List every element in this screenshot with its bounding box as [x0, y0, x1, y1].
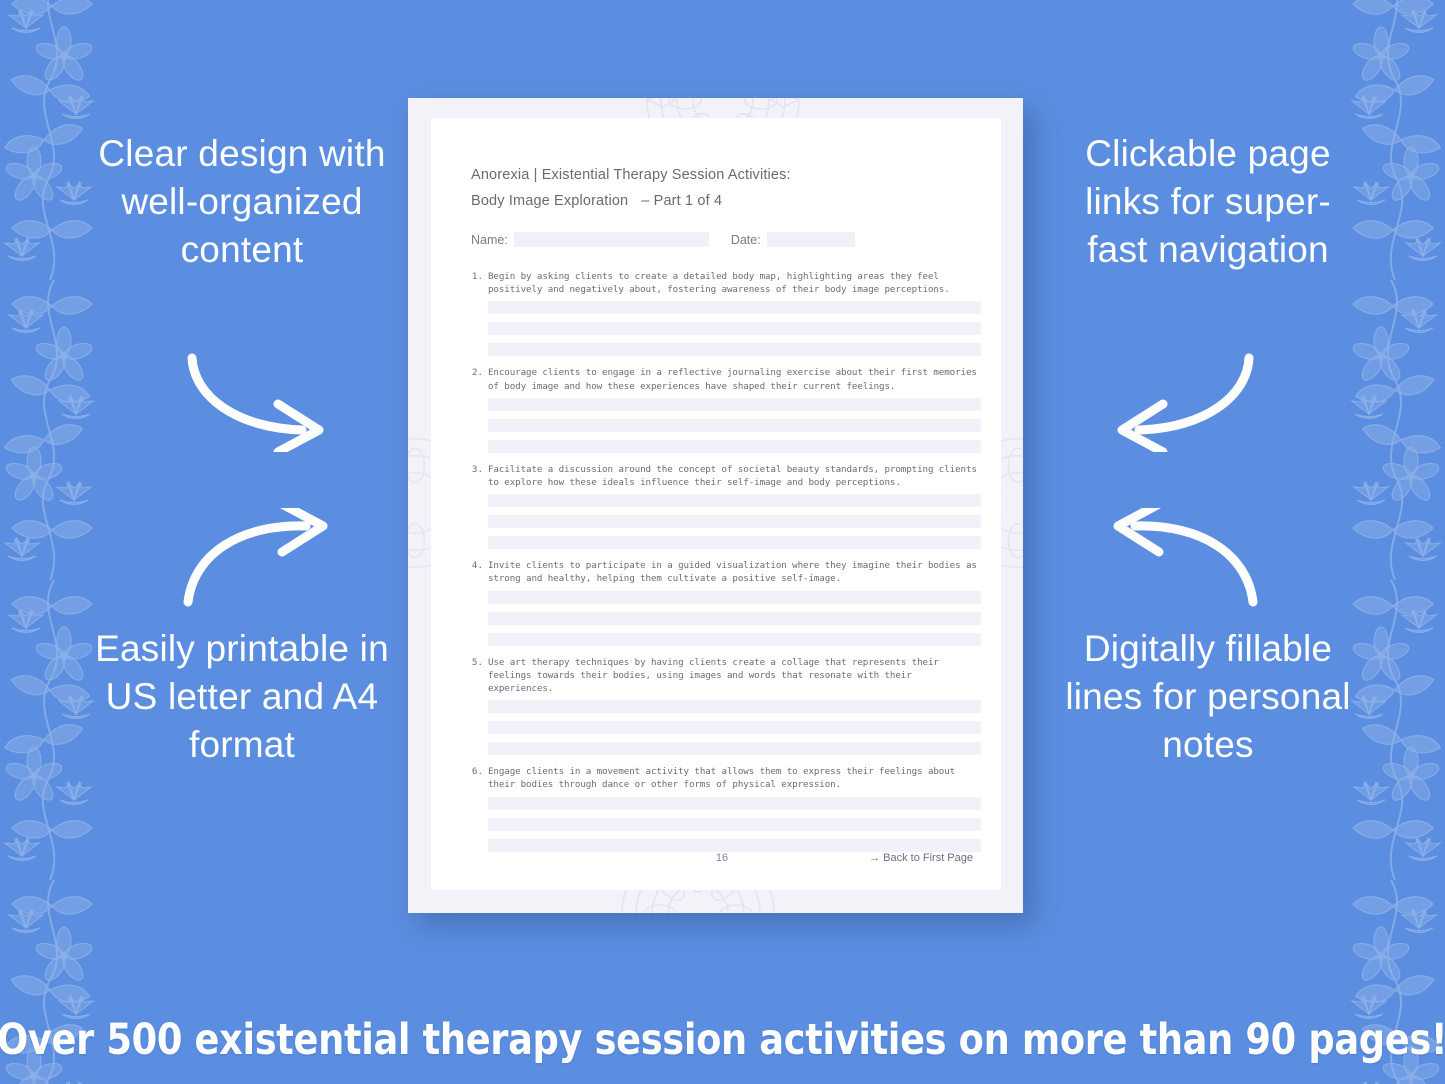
curved-arrow-down-left-icon [1098, 352, 1263, 457]
back-to-first-page-label: Back to First Page [883, 852, 973, 864]
banner-text: Over 500 existential therapy session act… [0, 1015, 1445, 1065]
fillable-lines-group [488, 591, 981, 646]
fillable-line[interactable] [488, 839, 981, 852]
fillable-line[interactable] [488, 419, 981, 432]
page-part-label: – Part 1 of 4 [628, 193, 722, 209]
fillable-lines-group [488, 700, 981, 755]
name-date-row: Name: Date: [471, 232, 981, 247]
name-input[interactable] [514, 232, 709, 247]
activity-item-text: Engage clients in a movement activity th… [488, 765, 981, 791]
arrow-right-icon: → [869, 852, 880, 864]
feature-text-clickable-links: Clickable page links for super-fast navi… [1058, 130, 1358, 274]
activity-item-number: 3. [471, 463, 488, 476]
fillable-line[interactable] [488, 700, 981, 713]
fillable-line[interactable] [488, 322, 981, 335]
fillable-line[interactable] [488, 818, 981, 831]
activity-item-number: 4. [471, 559, 488, 572]
activity-item-row: 6.Engage clients in a movement activity … [471, 765, 981, 791]
activity-item: 4.Invite clients to participate in a gui… [471, 559, 981, 645]
page-title-line2: Body Image Exploration– Part 1 of 4 [471, 188, 981, 214]
fillable-line[interactable] [488, 398, 981, 411]
curved-arrow-down-right-icon [178, 352, 343, 457]
activity-item: 1.Begin by asking clients to create a de… [471, 270, 981, 356]
activity-item-number: 1. [471, 270, 488, 283]
fillable-line[interactable] [488, 440, 981, 453]
page-subtitle-text: Body Image Exploration [471, 193, 628, 209]
activity-item-text: Begin by asking clients to create a deta… [488, 270, 981, 296]
fillable-lines-group [488, 398, 981, 453]
fillable-line[interactable] [488, 494, 981, 507]
activity-item: 3.Facilitate a discussion around the con… [471, 463, 981, 549]
activity-item-number: 2. [471, 366, 488, 379]
worksheet-sheet: Anorexia | Existential Therapy Session A… [431, 118, 1001, 890]
date-label: Date: [731, 233, 761, 247]
fillable-line[interactable] [488, 742, 981, 755]
fillable-lines-group [488, 797, 981, 852]
activity-item-row: 5.Use art therapy techniques by having c… [471, 656, 981, 696]
fillable-lines-group [488, 494, 981, 549]
curved-arrow-up-right-icon [178, 508, 343, 613]
activity-item-row: 3.Facilitate a discussion around the con… [471, 463, 981, 489]
feature-text-printable: Easily printable in US letter and A4 for… [92, 625, 392, 769]
activity-item: 6.Engage clients in a movement activity … [471, 765, 981, 851]
sheet-footer: 16 →Back to First Page [471, 852, 973, 864]
page-number: 16 [716, 852, 728, 864]
activity-list: 1.Begin by asking clients to create a de… [471, 270, 981, 852]
fillable-line[interactable] [488, 612, 981, 625]
worksheet-page-preview[interactable]: Anorexia | Existential Therapy Session A… [408, 98, 1023, 913]
activity-item-row: 2.Encourage clients to engage in a refle… [471, 366, 981, 392]
fillable-line[interactable] [488, 721, 981, 734]
activity-item-text: Facilitate a discussion around the conce… [488, 463, 981, 489]
activity-item-text: Invite clients to participate in a guide… [488, 559, 981, 585]
activity-item-text: Encourage clients to engage in a reflect… [488, 366, 981, 392]
page-title-text: Anorexia | Existential Therapy Session A… [471, 167, 791, 183]
activity-item: 5.Use art therapy techniques by having c… [471, 656, 981, 756]
fillable-line[interactable] [488, 301, 981, 314]
worksheet-content: Anorexia | Existential Therapy Session A… [471, 162, 981, 862]
activity-item-number: 5. [471, 656, 488, 669]
name-label: Name: [471, 233, 508, 247]
activity-item-number: 6. [471, 765, 488, 778]
fillable-line[interactable] [488, 515, 981, 528]
activity-item: 2.Encourage clients to engage in a refle… [471, 366, 981, 452]
activity-item-row: 4.Invite clients to participate in a gui… [471, 559, 981, 585]
fillable-line[interactable] [488, 633, 981, 646]
activity-item-row: 1.Begin by asking clients to create a de… [471, 270, 981, 296]
bottom-promo-banner: Over 500 existential therapy session act… [0, 996, 1445, 1084]
fillable-line[interactable] [488, 591, 981, 604]
back-to-first-page-link[interactable]: →Back to First Page [869, 852, 973, 864]
fillable-lines-group [488, 301, 981, 356]
page-title-line1: Anorexia | Existential Therapy Session A… [471, 162, 981, 188]
feature-text-clear-design: Clear design with well-organized content [92, 130, 392, 274]
fillable-line[interactable] [488, 343, 981, 356]
activity-item-text: Use art therapy techniques by having cli… [488, 656, 981, 696]
feature-text-fillable-lines: Digitally fillable lines for personal no… [1058, 625, 1358, 769]
fillable-line[interactable] [488, 536, 981, 549]
date-input[interactable] [767, 232, 855, 247]
curved-arrow-up-left-icon [1098, 508, 1263, 613]
fillable-line[interactable] [488, 797, 981, 810]
